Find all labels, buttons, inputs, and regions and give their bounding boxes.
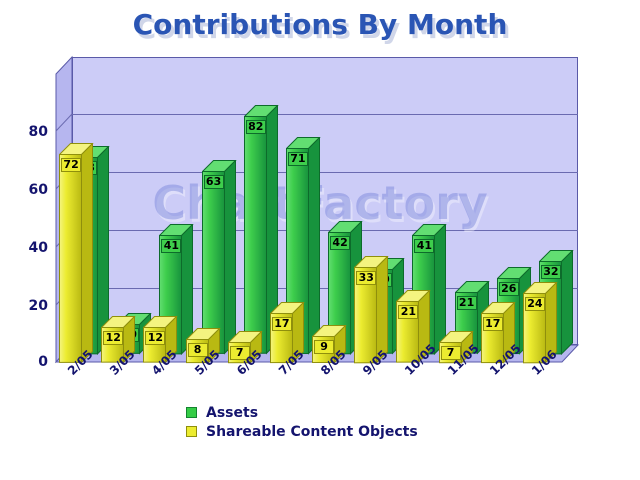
y-tick-label-80: 80 — [8, 124, 48, 140]
bar-value-label: 33 — [356, 271, 376, 285]
bar-value-label: 41 — [161, 239, 181, 253]
bar-value-label: 21 — [398, 305, 418, 319]
bar-value-label: 24 — [525, 297, 545, 311]
bar-value-label: 9 — [314, 340, 334, 354]
bar-value-label: 71 — [288, 152, 308, 166]
y-tick-label-20: 20 — [8, 298, 48, 314]
legend-item-sco[interactable]: Shareable Content Objects — [186, 422, 418, 441]
bar-value-label: 12 — [103, 331, 123, 345]
bar-3d-shape — [59, 143, 94, 364]
y-tick-label-40: 40 — [8, 240, 48, 256]
bar-yellow[interactable] — [59, 143, 92, 362]
legend-label-assets: Assets — [206, 405, 258, 421]
bar-value-label: 42 — [330, 236, 350, 250]
bar-value-label: 21 — [457, 296, 477, 310]
y-tick-label-0: 0 — [8, 354, 48, 370]
legend: Assets Shareable Content Objects — [186, 403, 418, 441]
legend-swatch-assets-icon — [186, 407, 197, 418]
legend-item-assets[interactable]: Assets — [186, 403, 418, 422]
bar-3d-shape — [202, 160, 237, 355]
bar-value-label: 41 — [414, 239, 434, 253]
bar-value-label: 12 — [145, 331, 165, 345]
bar-value-label: 17 — [483, 317, 503, 331]
bar-value-label: 82 — [246, 120, 266, 134]
bar-value-label: 32 — [541, 265, 561, 279]
chart-root: Contributions By Month ChartFactory 80 6… — [0, 0, 640, 480]
legend-swatch-sco-icon — [186, 426, 197, 437]
bar-value-label: 72 — [61, 158, 81, 172]
bar-value-label: 26 — [499, 282, 519, 296]
bar-value-label: 17 — [272, 317, 292, 331]
legend-label-sco: Shareable Content Objects — [206, 424, 418, 440]
y-tick-label-60: 60 — [8, 182, 48, 198]
bar-value-label: 63 — [204, 175, 224, 189]
